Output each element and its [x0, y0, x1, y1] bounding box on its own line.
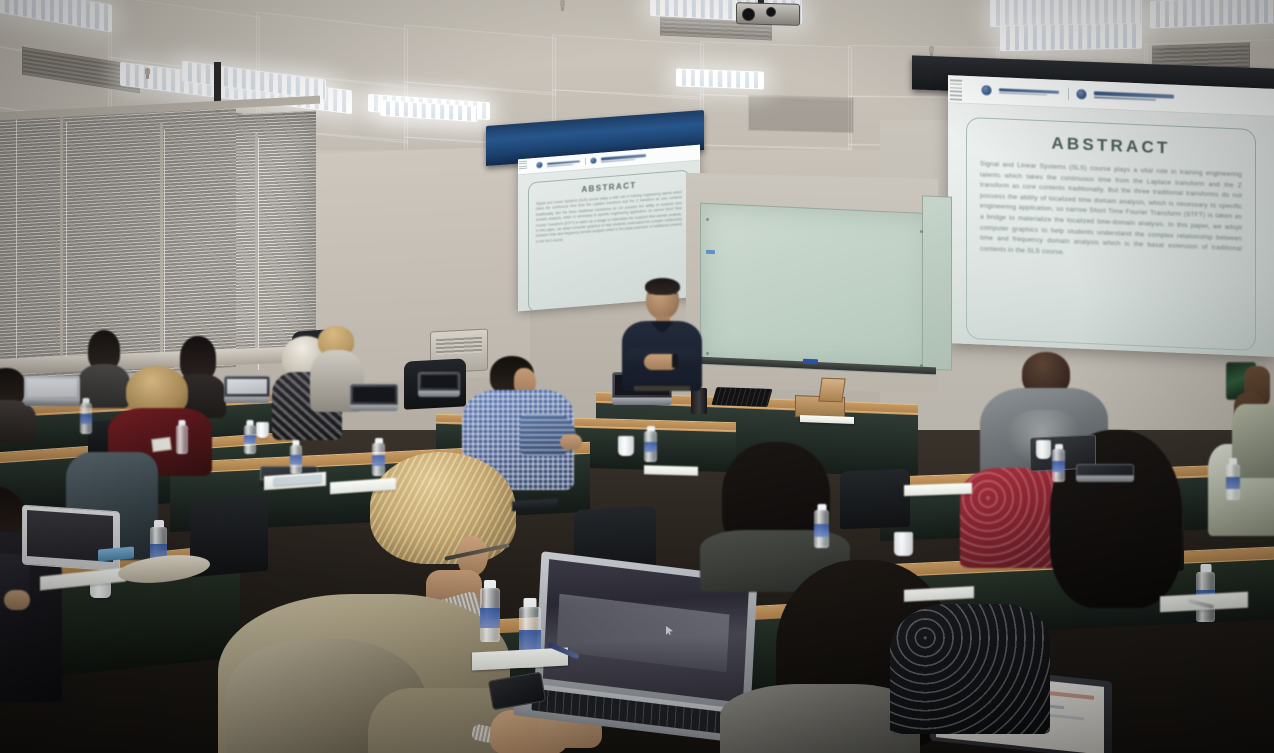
logo-divider [1068, 88, 1069, 100]
ceiling-light-panel [676, 68, 764, 89]
attendee-hand [560, 434, 582, 450]
university-crest-logo [981, 85, 992, 96]
attendee-hand [4, 590, 30, 610]
paper-cup[interactable] [618, 436, 634, 456]
whiteboard-marker[interactable] [706, 250, 715, 254]
water-bottle[interactable] [480, 580, 500, 642]
attendee-laptop[interactable] [1076, 464, 1134, 482]
slide-body-text: Signal and Linear Systems (SLS) course p… [980, 160, 1242, 266]
water-bottle[interactable] [244, 420, 256, 454]
attendee-laptop[interactable] [24, 376, 80, 408]
attendee-laptop[interactable] [418, 372, 460, 398]
projector-lens [766, 7, 776, 17]
ceiling-light-panel [1150, 0, 1274, 29]
whiteboard-marker[interactable] [803, 359, 818, 365]
presenter-watch [672, 354, 678, 368]
desk-keyboard[interactable] [711, 387, 772, 407]
projection-screen-right: ABSTRACT Signal and Linear Systems (SLS)… [948, 75, 1274, 357]
attendee-laptop[interactable] [224, 376, 270, 404]
green-whiteboard-panel [922, 195, 952, 370]
water-bottle[interactable] [372, 438, 385, 476]
water-bottle[interactable] [814, 504, 829, 548]
slide-title: ABSTRACT [980, 131, 1242, 162]
water-bottle[interactable] [80, 398, 92, 434]
water-bottle[interactable] [176, 420, 188, 454]
slide-content-frame: ABSTRACT Signal and Linear Systems (SLS)… [966, 117, 1256, 351]
water-bottle[interactable] [1052, 444, 1065, 482]
name-badge [151, 437, 171, 452]
ceiling-light-panel [1000, 23, 1142, 51]
notepad [644, 465, 698, 476]
presenter-glasses [648, 293, 677, 300]
slide-body-text: Signal and Linear Systems (SLS) course p… [536, 190, 682, 245]
screen-tabs [519, 161, 527, 171]
attendee-torso [890, 604, 1050, 734]
college-crest-logo [590, 157, 597, 165]
presenter [612, 280, 710, 405]
water-bottle[interactable] [644, 426, 657, 462]
water-bottle[interactable] [290, 440, 302, 474]
attendee-polka [890, 604, 1050, 734]
paper-cup[interactable] [894, 532, 913, 556]
cardboard-box-lid [818, 378, 845, 403]
screen-tabs [950, 79, 962, 102]
green-whiteboard [700, 203, 934, 376]
logo-divider [585, 158, 586, 165]
paper-cup[interactable] [256, 422, 269, 438]
projector-lens [742, 8, 755, 21]
water-bottle[interactable] [1226, 458, 1240, 500]
attendee-laptop[interactable] [350, 384, 398, 412]
college-crest-logo [1076, 89, 1087, 100]
paper-cup[interactable] [1036, 440, 1051, 459]
university-crest-logo [536, 161, 543, 169]
lecture-hall-photo: ABSTRACT Signal and Linear Systems (SLS)… [0, 0, 1274, 753]
